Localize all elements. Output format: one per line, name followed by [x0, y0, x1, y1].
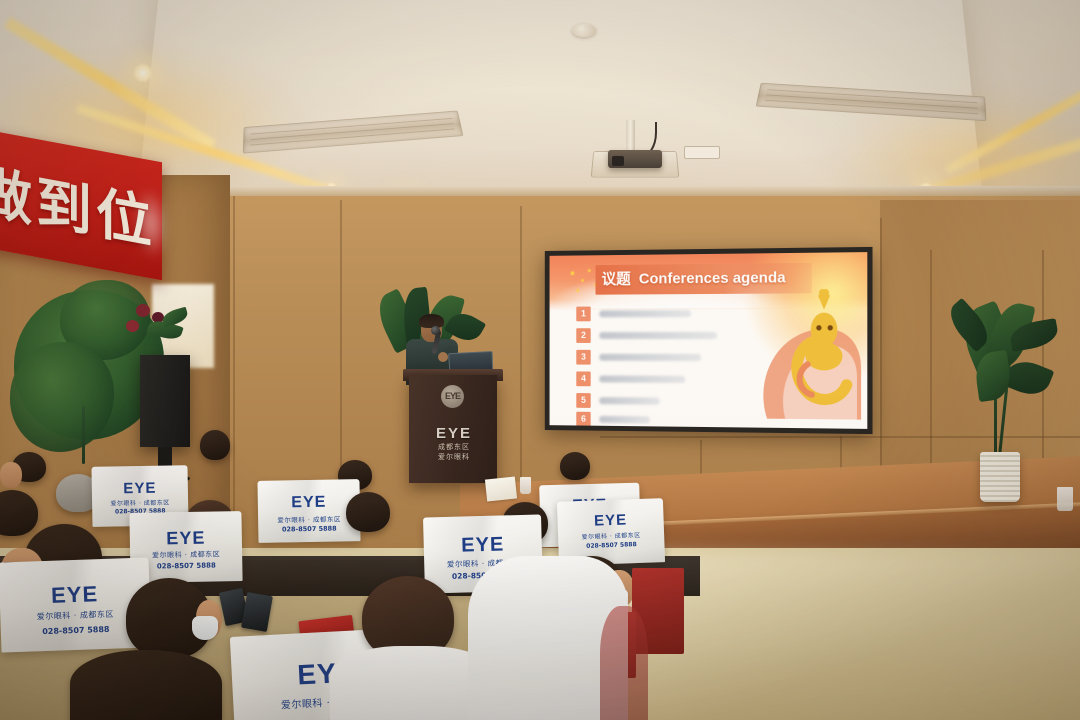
- podium-plaque-text: EYE: [441, 385, 464, 408]
- chair-subtitle: 爱尔眼科 · 成都东区: [258, 513, 360, 525]
- slide-dot-3: [588, 269, 591, 272]
- agenda-text-6: [599, 416, 649, 423]
- wall-panel-seam-1: [233, 196, 235, 526]
- agenda-text-3: [599, 354, 701, 361]
- podium-logo-eye: EYE: [425, 425, 483, 442]
- agenda-number-2: 2: [576, 328, 590, 343]
- wall-panel-seam-3: [520, 206, 522, 506]
- wall-panel-seam-2: [340, 200, 342, 510]
- microphone-head-icon: [431, 326, 440, 335]
- agenda-number-4: 4: [576, 371, 590, 386]
- agenda-number-3: 3: [576, 350, 590, 365]
- podium-branding: EYE 成都东区 爱尔眼科: [425, 425, 483, 462]
- ceiling-access-label: [684, 146, 720, 159]
- slide-dot-1: [571, 271, 575, 275]
- agenda-text-1: [599, 310, 691, 317]
- downlight-icon-1: [132, 62, 154, 84]
- podium-logo-line1: 成都东区: [425, 443, 483, 452]
- slide-title-cn: 议题: [602, 267, 635, 293]
- flower-arrangement: [118, 300, 188, 360]
- agenda-number-5: 5: [576, 393, 590, 408]
- handout-paper-1: [485, 476, 517, 501]
- potted-plant-right: [950, 300, 1070, 510]
- podium-logo-plaque: EYE: [441, 385, 464, 408]
- agenda-text-5: [599, 397, 659, 404]
- projection-screen-frame: 议题 Conferences agenda 1 2 3 4 5 6: [545, 247, 873, 434]
- loudspeaker-cabinet: [140, 355, 190, 447]
- attendee-head-b1: [200, 430, 230, 460]
- water-cup-stack: [1057, 487, 1073, 511]
- smoke-detector-icon: [572, 24, 596, 37]
- podium-logo-line2: 爱尔眼科: [425, 453, 483, 462]
- agenda-text-2: [599, 332, 717, 339]
- attendee-head-m2: [346, 492, 390, 532]
- agenda-text-4: [599, 375, 685, 382]
- attendee-head-f3: [70, 650, 222, 720]
- face-mask-f1: [192, 616, 218, 640]
- chair-logo: EYE: [130, 527, 242, 550]
- slide-mascot-illustration: [751, 289, 863, 420]
- water-cup-1: [520, 477, 531, 494]
- agenda-number-6: 6: [576, 412, 590, 427]
- attendee-shoulders-f5: [600, 606, 648, 720]
- banner-highlight: [134, 185, 168, 261]
- chair-logo: EYE: [92, 479, 188, 498]
- presenter-hand: [438, 352, 448, 362]
- attendee-head-b4: [560, 452, 590, 480]
- projector-lens-icon: [612, 156, 624, 166]
- chair-logo: EYE: [258, 493, 360, 513]
- attendee-face-m4: [0, 462, 22, 488]
- conference-hall-photo: 做到位 议题 Conferences agenda 1 2 3 4: [0, 0, 1080, 720]
- agenda-number-1: 1: [576, 307, 590, 322]
- attendee-head-side: [0, 490, 60, 550]
- chair-logo: EYE: [423, 532, 542, 558]
- slide-dot-2: [581, 279, 584, 282]
- projection-screen: 议题 Conferences agenda 1 2 3 4 5 6: [550, 252, 868, 429]
- slide-dot-5: [576, 289, 579, 292]
- chair-subtitle: 爱尔眼科 · 成都东区: [92, 497, 188, 508]
